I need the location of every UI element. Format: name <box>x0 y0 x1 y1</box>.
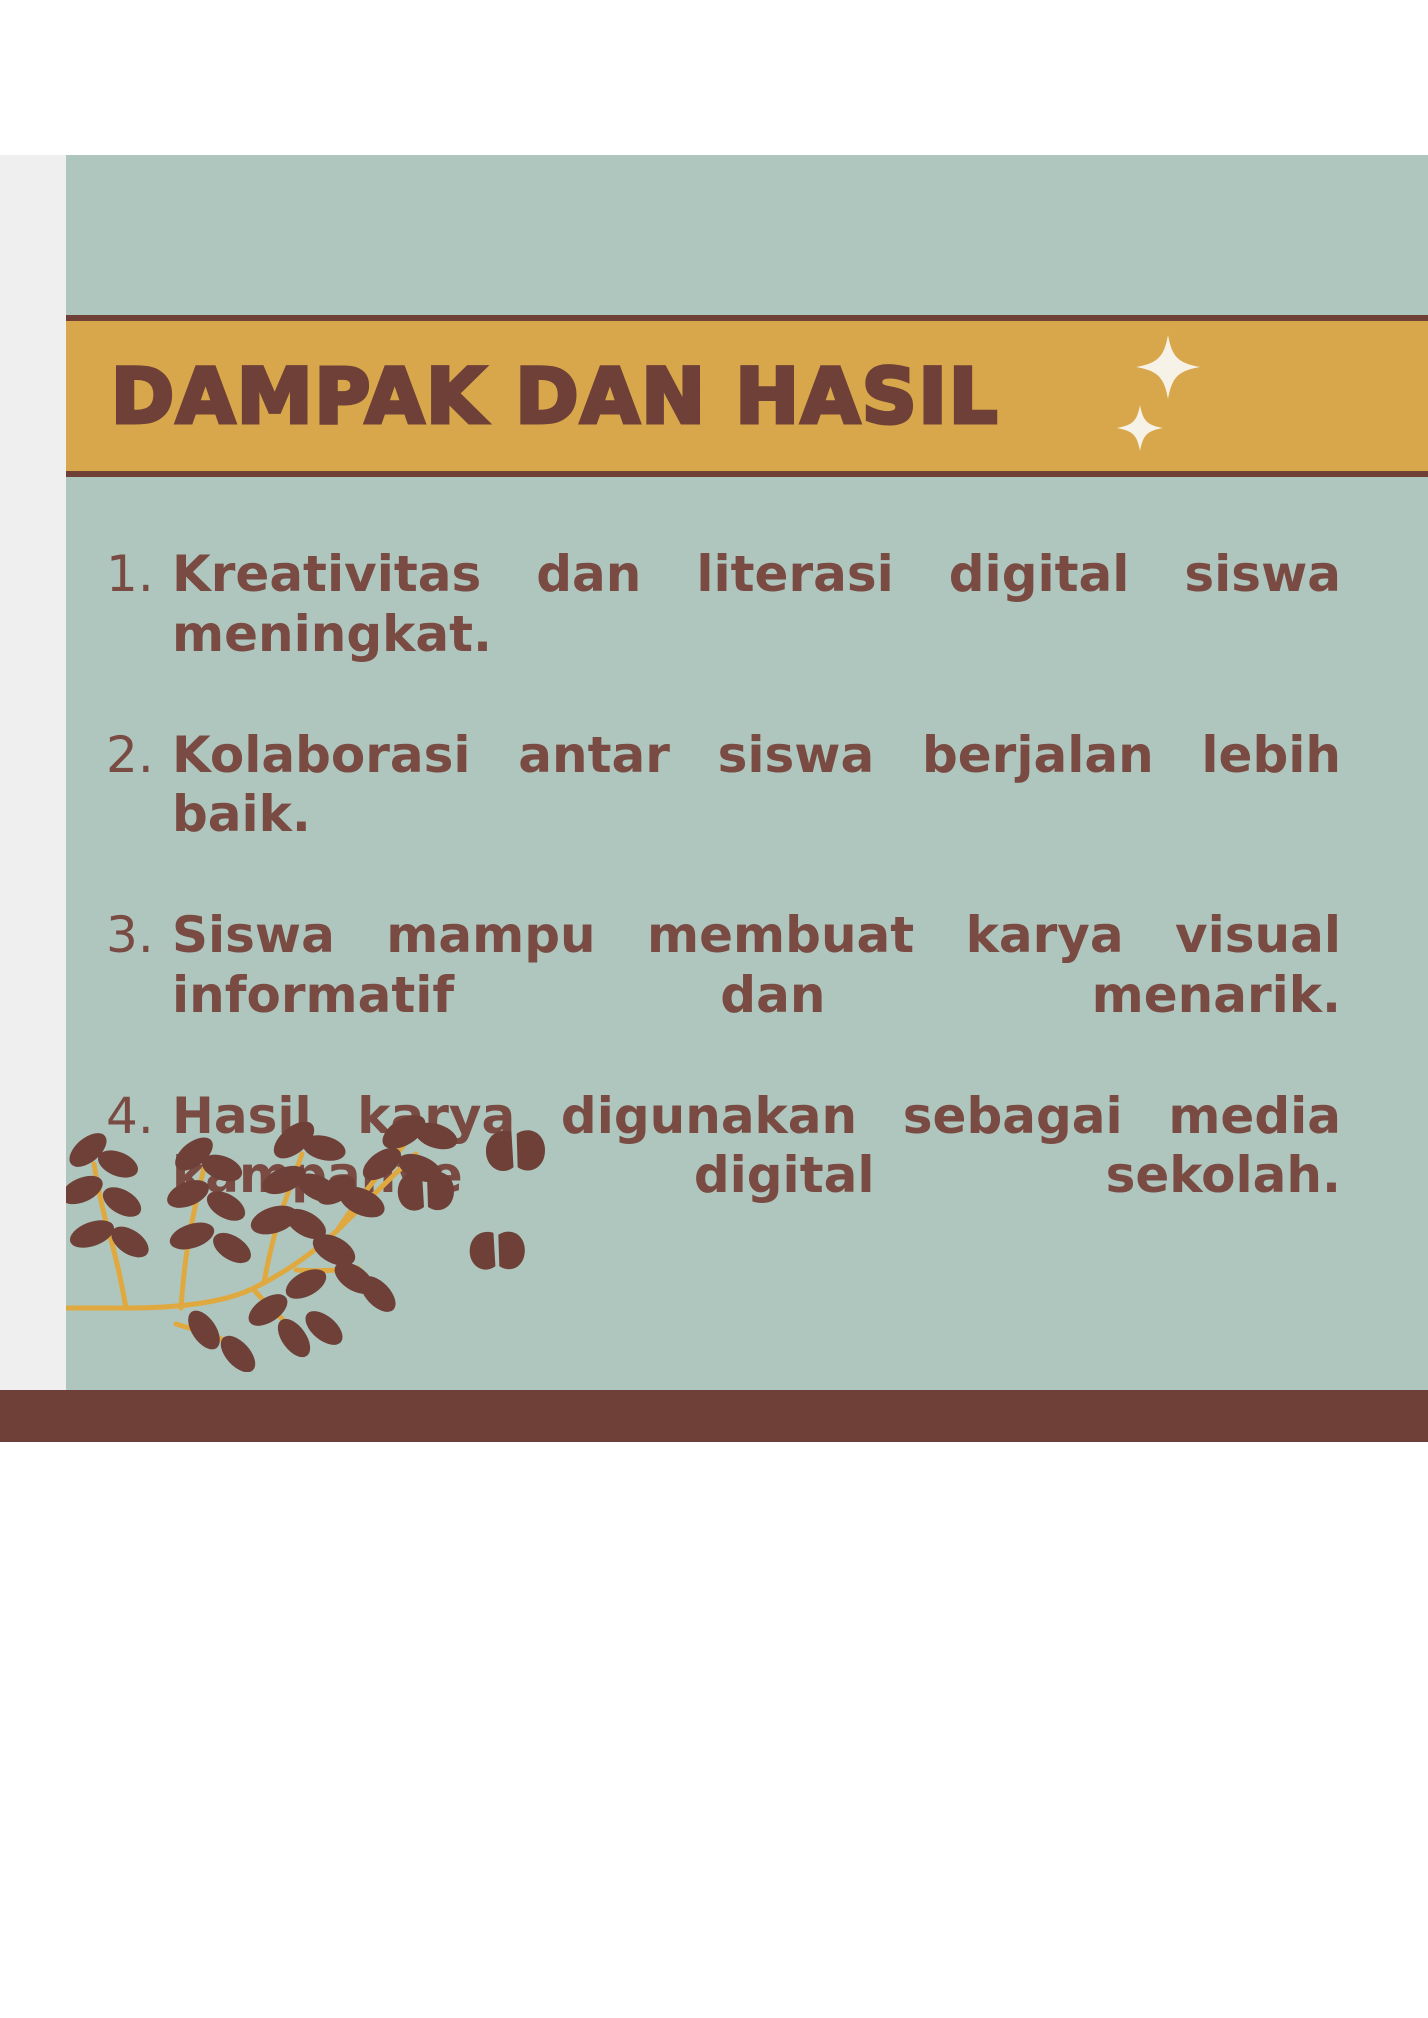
list-item: Kolaborasi antar siswa berjalan lebih ba… <box>106 726 1341 905</box>
list-item: Siswa mampu membuat karya visual informa… <box>106 906 1341 1085</box>
list-item: Kreativitas dan literasi digital siswa m… <box>106 545 1341 724</box>
footer-bar <box>0 1390 1428 1442</box>
impact-list: Kreativitas dan literasi digital siswa m… <box>106 545 1341 1265</box>
left-gutter-strip <box>0 155 66 1390</box>
list-item: Hasil karya digunakan sebagai media kamp… <box>106 1087 1341 1266</box>
sparkle-icon <box>1106 327 1226 475</box>
impact-list-wrapper: Kreativitas dan literasi digital siswa m… <box>106 545 1341 1267</box>
list-item-text: Kolaborasi antar siswa berjalan lebih ba… <box>172 726 1341 844</box>
page-title: DAMPAK DAN HASIL <box>111 352 999 441</box>
list-item-text: Siswa mampu membuat karya visual informa… <box>172 906 1341 1024</box>
list-item-text: Hasil karya digunakan sebagai media kamp… <box>172 1087 1341 1205</box>
title-banner: DAMPAK DAN HASIL <box>66 315 1428 477</box>
slide-canvas: DAMPAK DAN HASIL Kreativitas dan literas… <box>66 155 1428 1390</box>
slide-page: DAMPAK DAN HASIL Kreativitas dan literas… <box>0 0 1428 2018</box>
list-item-text: Kreativitas dan literasi digital siswa m… <box>172 545 1341 663</box>
